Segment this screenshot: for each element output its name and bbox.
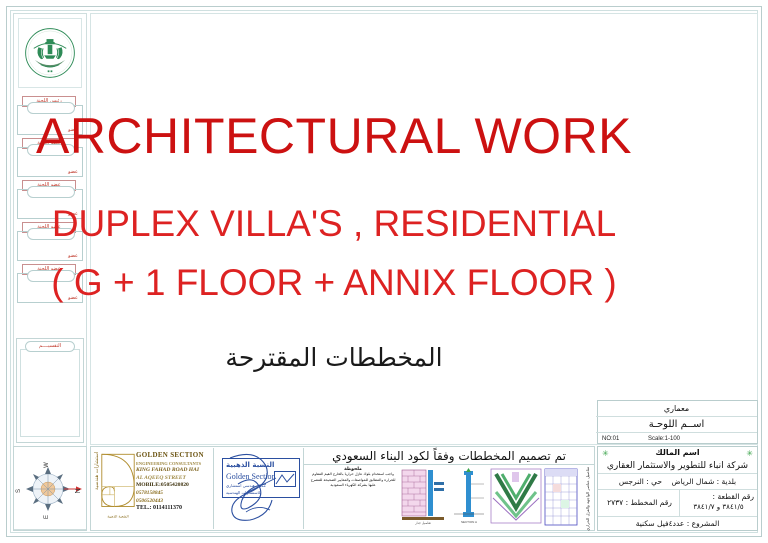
signature-icon [214,450,302,528]
owner-label: اسم المالك [655,448,699,457]
consultant-telephone: TEL.: 0114111370 [136,505,212,513]
committee-name-oval[interactable] [27,186,75,198]
svg-text:تفاصيل جدار: تفاصيل جدار [414,521,431,525]
star-icon: ✳ [746,448,753,460]
compass-rose-icon: W E N S [14,447,86,530]
plan-number: ٢٧٣٧ [607,498,623,507]
page-title: ARCHITECTURAL WORK [0,107,668,165]
consultant-address-line-1: KING FAHAD ROAD HAI [136,467,212,475]
plot-numbers: ٣٨٤١/٥ و ٣٨٤١/٧ [683,502,754,513]
consultant-phone-2: 0506520443 [136,498,212,506]
plot-and-plan-row: رقم القطعة : ٣٨٤١/٥ و ٣٨٤١/٧ رقم المخطط … [598,490,757,517]
sheet-bottom-edge [0,537,768,543]
compass-west-label: W [44,462,50,468]
building-code-banner: تم تصميم المخططات وفقاً لكود البناء السع… [304,448,594,465]
drawing-scale: Scale:1-100 [648,433,680,445]
drawing-name-block: معماري اســم اللوحـة NO:01 Scale:1-100 [597,400,758,444]
saudi-municipality-emblem-icon [21,24,79,82]
drawing-number: NO:01 [602,433,619,445]
svg-text:SECTION A: SECTION A [461,520,477,524]
consultant-company-name: GOLDEN SECTION [136,452,212,460]
subtitle-line-1: DUPLEX VILLA'S , RESIDENTIAL [0,203,668,245]
drawing-number-row: NO:01 Scale:1-100 [596,432,757,445]
note-body: واجب استخدام بلوك عازل حراريا بالخارج ال… [310,472,396,489]
project-label: المشروع : عدد٤فيل سكنية [598,517,757,531]
consultant-contact-details: GOLDEN SECTION ENGINEERING CONSULTANTS K… [136,452,212,513]
committee-role: عضو [68,253,78,259]
thermal-insulation-note: ملحوظة واجب استخدام بلوك عازل حراريا بال… [310,467,396,489]
thumbnail-vertical-label: تفاصيل عناصر الواجهة والعزل الحراري [585,467,590,525]
consultant-subtitle: ENGINEERING CONSULTANTS [136,460,212,468]
compass-north-label: N [75,488,82,493]
wall-section-detail-thumbnail: تفاصيل جدار [400,468,448,526]
detail-thumbnails: ملحوظة واجب استخدام بلوك عازل حراريا بال… [304,465,594,528]
consultant-mobile: MOBILE:0505420820 [136,482,212,490]
schedule-table-thumbnail [544,468,578,526]
owner-label-row: ✳ اسم المالك ✳ [598,447,757,459]
approval-stamp-cell: النسبة الذهبية Golden Section مكتب هندسي… [214,448,304,529]
consultant-phone-1: 0578158845 [136,490,212,498]
owner-information-block: ✳ اسم المالك ✳ شركة انباء للتطوير والاست… [597,446,758,531]
compass-cell: W E N S [13,446,87,531]
consultant-address-line-2: AL AQEEQ STREET [136,475,212,483]
compass-south-label: S [16,489,22,493]
plot-label: رقم القطعة : [683,491,754,502]
subtitle-line-2: ( G + 1 FLOOR + ANNIX FLOOR ) [0,262,668,304]
drawing-discipline: معماري [596,401,757,416]
compass-east-label: E [44,515,50,519]
municipality-label: بلدية : شمال الرياض [672,477,737,486]
district-label: حي : النرجس [619,477,662,486]
municipality-row: بلدية : شمال الرياض حي : النرجس [598,474,757,490]
title-block-bottom-strip: استشارات هندسية الشعبة الذهبية GOLDEN SE… [90,446,595,531]
golden-ratio-spiral-icon: الشعبة الذهبية [100,452,136,525]
plan-number-cell: رقم المخطط : ٢٧٣٧ [598,490,681,516]
committee-role: عضو [68,169,78,175]
building-code-cell: تم تصميم المخططات وفقاً لكود البناء السع… [304,448,594,529]
foundation-detail-thumbnail [490,468,542,526]
consultant-logo-cell: استشارات هندسية الشعبة الذهبية GOLDEN SE… [92,448,214,529]
consultant-logo-caption: الشعبة الذهبية [107,514,128,518]
subtitle-arabic: المخططات المقترحة [0,343,668,372]
plot-number-cell: رقم القطعة : ٣٨٤١/٥ و ٣٨٤١/٧ [679,490,757,516]
owner-name: شركة انباء للتطوير والاستثمار العقاري [598,459,757,474]
plan-label: رقم المخطط : [626,498,672,507]
drawing-name-label: اســم اللوحـة [596,416,757,433]
emblem-box [14,14,86,92]
star-icon: ✳ [602,448,609,460]
column-detail-thumbnail: SECTION A [450,468,488,526]
architectural-title-sheet: رئيس اللجنة عضو عضو اللجنة عضو عضو اللجن… [0,0,768,543]
